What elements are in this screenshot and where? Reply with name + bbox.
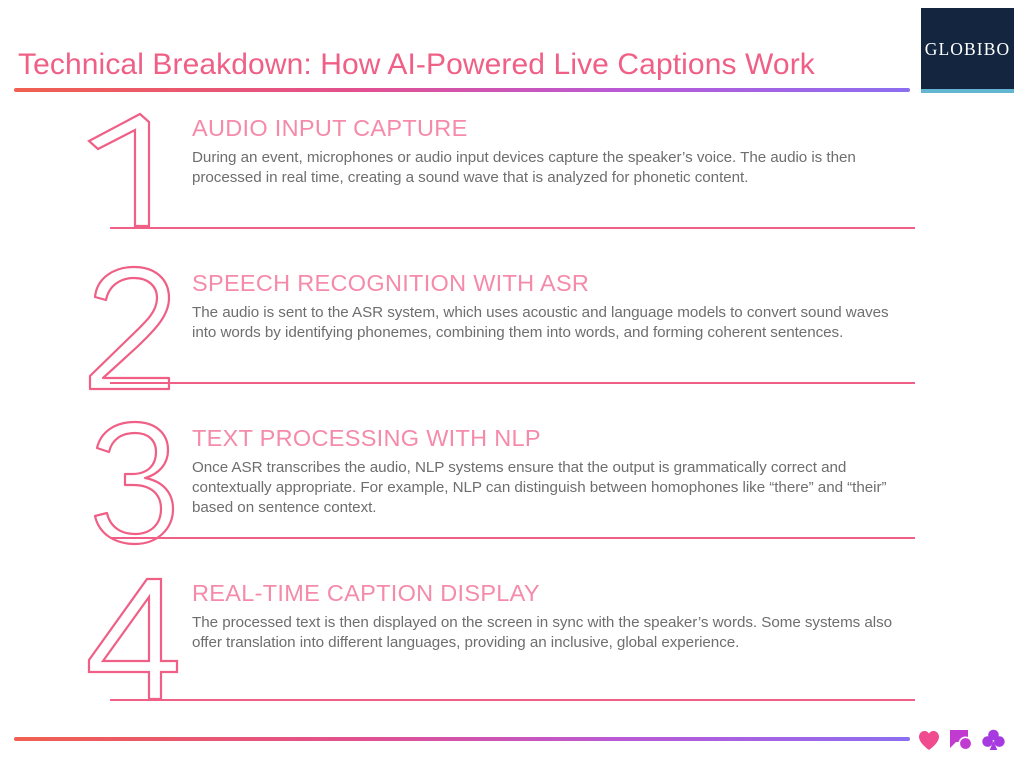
step-text-1: During an event, microphones or audio in… (192, 148, 910, 188)
step-heading-2: SPEECH RECOGNITION WITH ASR (192, 271, 910, 296)
step-divider-1 (110, 227, 915, 229)
step-heading-3: TEXT PROCESSING WITH NLP (192, 426, 910, 451)
footer-icon-group (918, 724, 1014, 756)
step-content-1: AUDIO INPUT CAPTURE During an event, mic… (192, 116, 910, 188)
step-number-1-icon (85, 108, 200, 240)
step-text-4: The processed text is then displayed on … (192, 613, 910, 653)
step-number-2-icon (85, 263, 200, 395)
club-icon (982, 729, 1005, 751)
logo-text: GLOBIBO (925, 41, 1010, 59)
step-content-2: SPEECH RECOGNITION WITH ASR The audio is… (192, 271, 910, 343)
heart-icon (918, 730, 940, 751)
step-number-4-icon (85, 573, 200, 705)
step-item-1: AUDIO INPUT CAPTURE During an event, mic… (0, 108, 1024, 263)
step-heading-1: AUDIO INPUT CAPTURE (192, 116, 910, 141)
step-content-4: REAL-TIME CAPTION DISPLAY The processed … (192, 581, 910, 653)
chat-bubble-icon (949, 729, 973, 751)
step-text-2: The audio is sent to the ASR system, whi… (192, 303, 910, 343)
title-divider (14, 88, 910, 92)
step-divider-2 (110, 382, 915, 384)
step-divider-3 (110, 537, 915, 539)
step-content-3: TEXT PROCESSING WITH NLP Once ASR transc… (192, 426, 910, 518)
step-text-3: Once ASR transcribes the audio, NLP syst… (192, 458, 910, 519)
step-heading-4: REAL-TIME CAPTION DISPLAY (192, 581, 910, 606)
globibo-logo: GLOBIBO (921, 8, 1014, 92)
logo-accent-bar (921, 89, 1014, 93)
page-title: Technical Breakdown: How AI-Powered Live… (18, 48, 815, 82)
step-divider-4 (110, 699, 915, 701)
step-item-3: TEXT PROCESSING WITH NLP Once ASR transc… (0, 418, 1024, 573)
footer-divider (14, 737, 910, 741)
step-number-3-icon (85, 418, 200, 550)
step-item-4: REAL-TIME CAPTION DISPLAY The processed … (0, 573, 1024, 728)
step-item-2: SPEECH RECOGNITION WITH ASR The audio is… (0, 263, 1024, 418)
